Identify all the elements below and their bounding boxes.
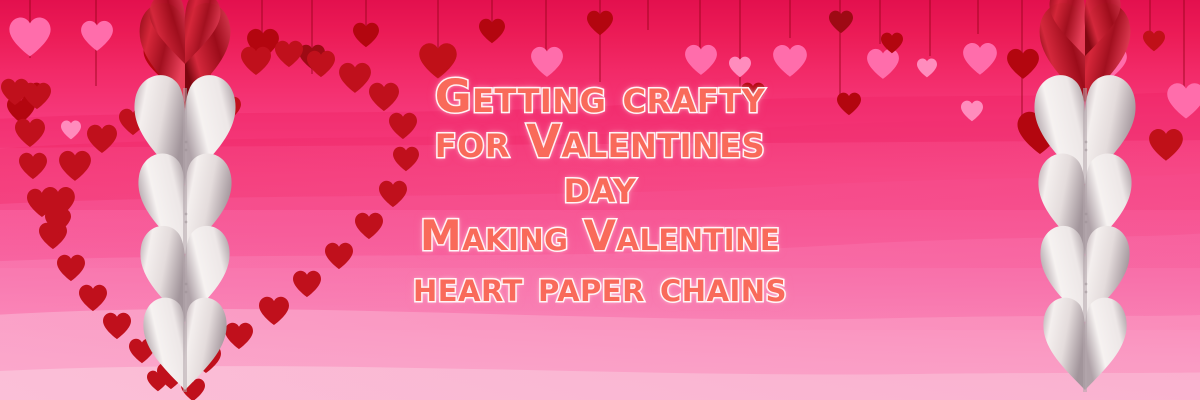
paper-heart-white-group-right [1034,75,1135,392]
paper-chain-left-svg [110,0,260,400]
valentines-banner: Getting crafty for Valentines day Making… [0,0,1200,400]
paper-heart-white-group [134,75,235,392]
paper-heart-chain-left [110,0,260,400]
paper-heart-chain-right [1010,0,1160,400]
paper-chain-right-svg [1010,0,1160,400]
